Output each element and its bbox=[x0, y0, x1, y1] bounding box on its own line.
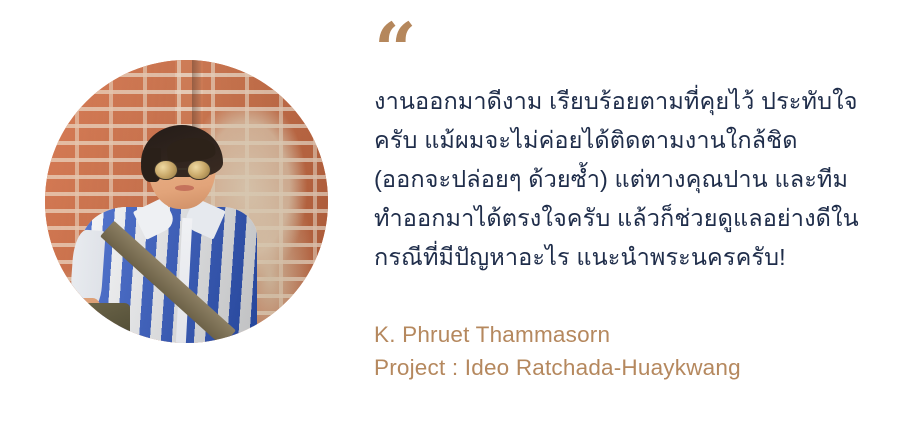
quote-text: งานออกมาดีงาม เรียบร้อยตามที่คุยไว้ ประท… bbox=[374, 82, 886, 277]
lips bbox=[175, 185, 193, 191]
quote-line: ทำออกมาได้ตรงใจครับ แล้วก็ช่วยดูแลอย่างด… bbox=[374, 199, 886, 238]
project-name: Project : Ideo Ratchada-Huaykwang bbox=[374, 351, 741, 384]
quote-line: งานออกมาดีงาม เรียบร้อยตามที่คุยไว้ ประท… bbox=[374, 82, 886, 121]
quote-line: (ออกจะปล่อยๆ ด้วยซ้ำ) แต่ทางคุณปาน และที… bbox=[374, 160, 886, 199]
crossbody-bag bbox=[82, 303, 130, 343]
attribution: K. Phruet Thammasorn Project : Ideo Ratc… bbox=[374, 318, 741, 384]
sunglasses-bridge bbox=[177, 168, 187, 170]
photo-scene bbox=[45, 60, 328, 343]
author-name: K. Phruet Thammasorn bbox=[374, 318, 741, 351]
portrait-photo bbox=[45, 60, 328, 343]
quote-mark-icon: “ bbox=[374, 14, 415, 88]
quote-line: ครับ แม้ผมจะไม่ค่อยได้ติดตามงานใกล้ชิด bbox=[374, 121, 886, 160]
sunglasses-lens-left bbox=[154, 160, 178, 180]
sunglasses-icon bbox=[154, 160, 211, 180]
sunglasses-lens-right bbox=[187, 160, 211, 180]
person-figure bbox=[45, 60, 328, 343]
testimonial-card: “ งานออกมาดีงาม เรียบร้อยตามที่คุยไว้ ปร… bbox=[0, 0, 920, 424]
quote-line: กรณีที่มีปัญหาอะไร แนะนำพระนครครับ! bbox=[374, 238, 886, 277]
